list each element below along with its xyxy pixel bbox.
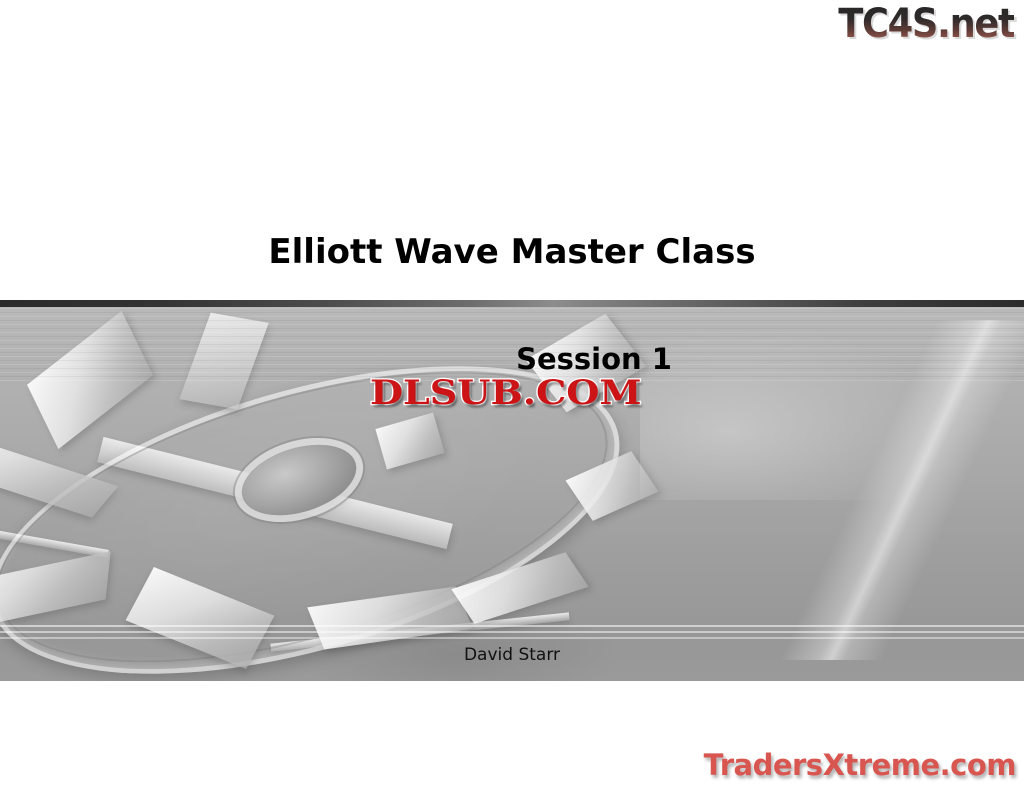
tc4s-logo: TC4S.net [838, 2, 1014, 46]
session-label: Session 1 [0, 342, 1024, 376]
presentation-slide: TC4S.net TC4S.net Elliott Wave Master Cl… [0, 0, 1024, 791]
page-title: Elliott Wave Master Class [0, 232, 1024, 272]
tradersxtreme-logo: TradersXtreme.com [704, 748, 1016, 782]
presenter-name: David Starr [0, 645, 1024, 665]
band-top-divider [0, 300, 1024, 307]
scanline-overlay-bottom [0, 622, 1024, 644]
dlsub-watermark: DLSUB.COM [370, 373, 642, 413]
